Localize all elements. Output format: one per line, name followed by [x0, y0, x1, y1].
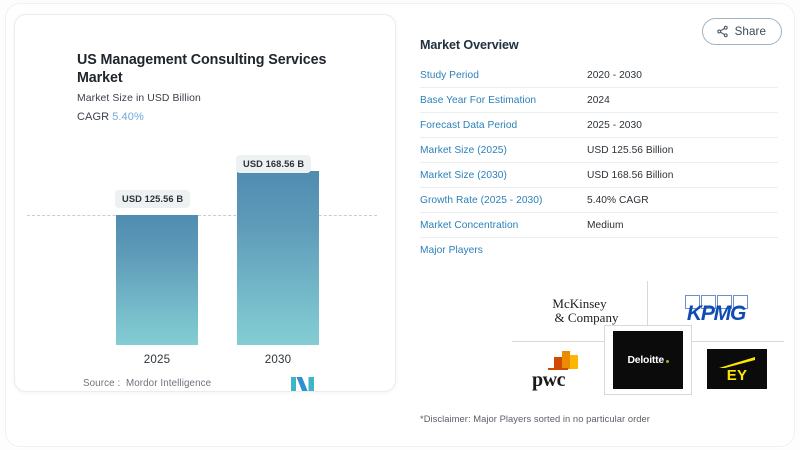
share-nodes-icon — [716, 25, 729, 38]
ey-wordmark: EY — [707, 367, 767, 384]
mckinsey-logo: McKinsey & Company — [541, 297, 619, 325]
table-row: Market Size (2030) USD 168.56 Billion — [420, 163, 778, 188]
table-row: Market Size (2025) USD 125.56 Billion — [420, 138, 778, 163]
row-value: USD 168.56 Billion — [587, 170, 778, 181]
table-row: Market Concentration Medium — [420, 213, 778, 238]
pwc-wordmark: pwc — [532, 369, 565, 392]
row-label: Forecast Data Period — [420, 120, 587, 131]
overview-table: Study Period 2020 - 2030 Base Year For E… — [420, 63, 778, 263]
share-button-label: Share — [735, 25, 766, 38]
row-value: 2020 - 2030 — [587, 70, 778, 81]
mckinsey-line2: & Company — [541, 311, 619, 325]
mckinsey-line1: McKinsey — [552, 296, 606, 311]
overview-heading: Market Overview — [420, 38, 782, 52]
major-players-logo-grid: McKinsey & Company KPMG p — [512, 281, 784, 395]
row-value: Medium — [587, 220, 778, 231]
gridline-125 — [27, 215, 377, 216]
row-value: USD 125.56 Billion — [587, 145, 778, 156]
disclaimer-text: *Disclaimer: Major Players sorted in no … — [420, 413, 650, 424]
source-line: Source : Mordor Intelligence — [83, 378, 211, 389]
pwc-logo: pwc — [532, 347, 600, 391]
row-label: Market Concentration — [420, 220, 587, 231]
x-tick-2025: 2025 — [116, 353, 198, 366]
row-label: Market Size (2030) — [420, 170, 587, 181]
deloitte-logo: Deloitte — [613, 331, 683, 389]
deloitte-green-dot — [666, 360, 669, 363]
row-label: Market Size (2025) — [420, 145, 587, 156]
table-row: Study Period 2020 - 2030 — [420, 63, 778, 88]
kpmg-wordmark: KPMG — [679, 302, 753, 326]
bar-2025[interactable] — [116, 215, 198, 345]
table-row: Forecast Data Period 2025 - 2030 — [420, 113, 778, 138]
row-label: Growth Rate (2025 - 2030) — [420, 195, 587, 206]
row-label: Study Period — [420, 70, 587, 81]
market-overview-panel: Market Overview Study Period 2020 - 2030… — [420, 38, 782, 263]
logo-cell-deloitte: Deloitte — [604, 325, 692, 395]
logo-cell-ey: EY — [690, 343, 784, 395]
row-value: 2024 — [587, 95, 778, 106]
source-label: Source : — [83, 378, 120, 389]
x-tick-2030: 2030 — [237, 353, 319, 366]
table-row: Base Year For Estimation 2024 — [420, 88, 778, 113]
chart-card: US Management Consulting Services Market… — [14, 14, 396, 392]
bar-2030[interactable] — [237, 171, 319, 345]
ey-logo: EY — [707, 349, 767, 389]
major-players-label: Major Players — [420, 245, 587, 256]
report-card-page: US Management Consulting Services Market… — [0, 0, 800, 450]
row-value: 5.40% CAGR — [587, 195, 778, 206]
source-name: Mordor Intelligence — [126, 378, 211, 389]
row-value: 2025 - 2030 — [587, 120, 778, 131]
mordor-intelligence-logo — [291, 377, 315, 392]
bar-label-2030: USD 168.56 B — [236, 155, 311, 173]
bar-chart-plot: USD 125.56 B 2025 USD 168.56 B 2030 — [15, 15, 396, 392]
kpmg-logo: KPMG — [679, 294, 753, 328]
deloitte-wordmark: Deloitte — [627, 355, 664, 366]
major-players-row: Major Players — [420, 238, 778, 263]
row-label: Base Year For Estimation — [420, 95, 587, 106]
table-row: Growth Rate (2025 - 2030) 5.40% CAGR — [420, 188, 778, 213]
bar-label-2025: USD 125.56 B — [115, 190, 190, 208]
